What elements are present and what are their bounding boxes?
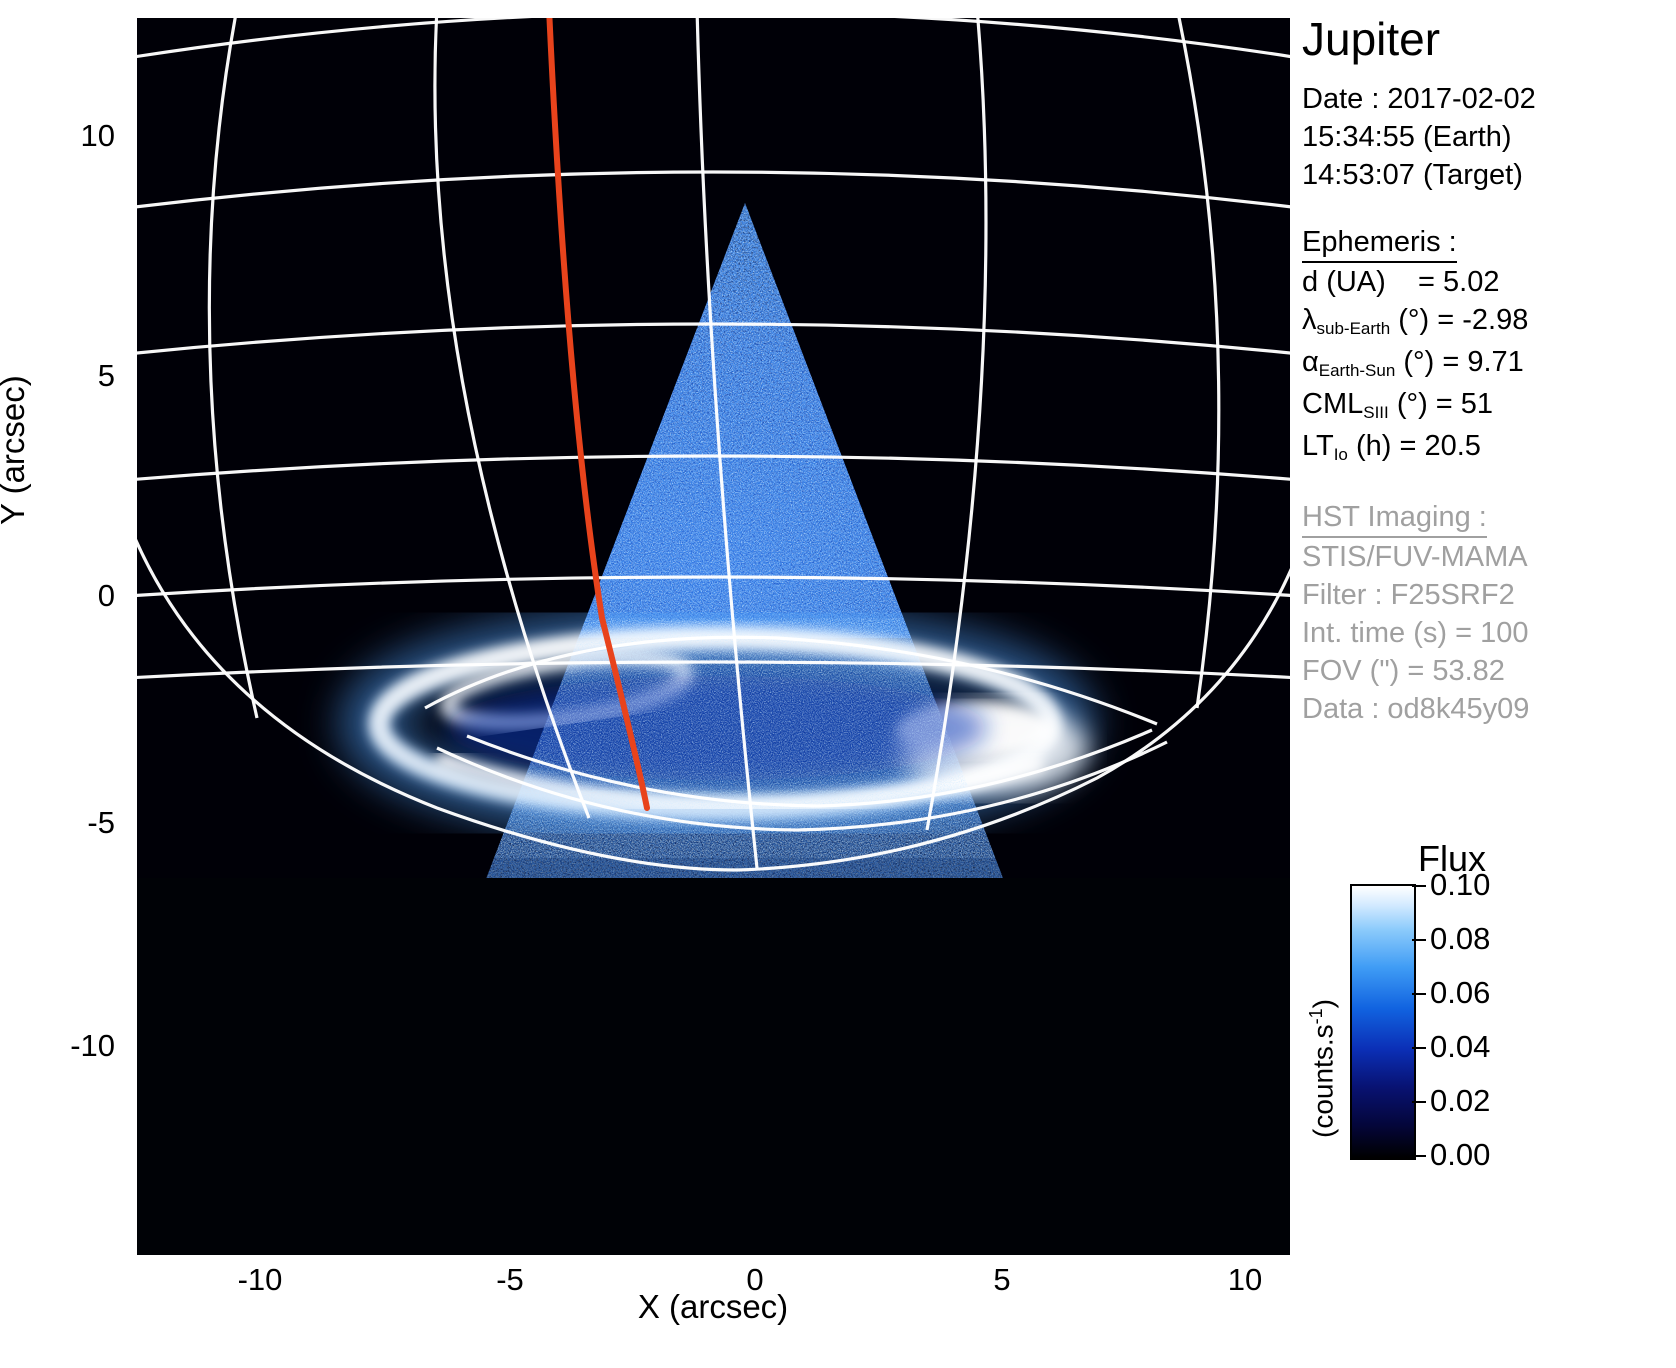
colorbar-unit-label: (counts.s-1) xyxy=(1306,999,1339,1138)
colorbar-unit-close: ) xyxy=(1307,999,1338,1008)
ephemeris-symbol-d: d xyxy=(1302,266,1318,298)
colorbar-label-004: 0.04 xyxy=(1430,1029,1490,1065)
colorbar-tick-mark-006 xyxy=(1412,993,1426,995)
spacer-1 xyxy=(1302,194,1676,208)
ephemeris-sub-cml: SIII xyxy=(1363,403,1389,422)
ephemeris-sub-lt: Io xyxy=(1334,445,1348,464)
ephemeris-value-alpha: = 9.71 xyxy=(1442,346,1523,378)
colorbar-label-008: 0.08 xyxy=(1430,921,1490,957)
observation-date: Date : 2017-02-02 xyxy=(1302,80,1676,118)
y-tick-minus10: -10 xyxy=(30,1028,115,1064)
colorbar-label-010: 0.10 xyxy=(1430,867,1490,903)
x-axis-title: X (arcsec) xyxy=(638,1288,788,1326)
imaging-instrument: STIS/FUV-MAMA xyxy=(1302,538,1676,576)
y-axis-title: Y (arcsec) xyxy=(0,375,32,525)
ephemeris-symbol-alpha: α xyxy=(1302,346,1319,378)
imaging-heading: HST Imaging : xyxy=(1302,499,1487,538)
colorbar-label-006: 0.06 xyxy=(1430,975,1490,1011)
ephemeris-symbol-lt: LT xyxy=(1302,430,1334,462)
colorbar-label-000: 0.00 xyxy=(1430,1137,1490,1173)
y-tick-5: 5 xyxy=(45,358,115,394)
x-tick-minus10: -10 xyxy=(210,1262,310,1298)
x-tick-minus5: -5 xyxy=(460,1262,560,1298)
imaging-integration-time: Int. time (s) = 100 xyxy=(1302,614,1676,652)
colorbar-tick-mark-002 xyxy=(1412,1101,1426,1103)
x-tick-5: 5 xyxy=(952,1262,1052,1298)
ephemeris-row-lt: LTIo (h) = 20.5 xyxy=(1302,427,1676,469)
spacer-2 xyxy=(1302,469,1676,483)
target-title: Jupiter xyxy=(1302,12,1676,66)
aurora-image-plot xyxy=(137,18,1290,1255)
imaging-fov: FOV (") = 53.82 xyxy=(1302,652,1676,690)
y-tick-0: 0 xyxy=(45,578,115,614)
ephemeris-row-lambda: λsub-Earth (°) = -2.98 xyxy=(1302,301,1676,343)
ephemeris-value-lambda: = -2.98 xyxy=(1437,304,1528,336)
ephemeris-unit-d: (UA) xyxy=(1326,266,1386,298)
imaging-filter: Filter : F25SRF2 xyxy=(1302,576,1676,614)
imaging-dataset: Data : od8k45y09 xyxy=(1302,690,1676,728)
info-panel: Jupiter Date : 2017-02-02 15:34:55 (Eart… xyxy=(1302,0,1676,800)
colorbar-unit-text: (counts.s xyxy=(1307,1024,1338,1138)
colorbar-tick-mark-008 xyxy=(1412,939,1426,941)
ephemeris-value-d: = 5.02 xyxy=(1418,266,1499,298)
background-sky-lower xyxy=(137,878,1290,1255)
colorbar-tick-mark-004 xyxy=(1412,1047,1426,1049)
ephemeris-unit-lt: (h) xyxy=(1356,430,1391,462)
ephemeris-sub-alpha: Earth-Sun xyxy=(1319,361,1396,380)
y-tick-10: 10 xyxy=(45,118,115,154)
colorbar-tick-mark-010 xyxy=(1412,885,1426,887)
plot-svg xyxy=(137,18,1290,1255)
observation-time-earth: 15:34:55 (Earth) xyxy=(1302,118,1676,156)
ephemeris-unit-cml: (°) xyxy=(1397,388,1428,420)
ephemeris-row-distance: d (UA) = 5.02 xyxy=(1302,263,1676,301)
ephemeris-row-alpha: αEarth-Sun (°) = 9.71 xyxy=(1302,343,1676,385)
ephemeris-sub-lambda: sub-Earth xyxy=(1317,319,1391,338)
ephemeris-unit-lambda: (°) xyxy=(1398,304,1429,336)
observation-time-target: 14:53:07 (Target) xyxy=(1302,156,1676,194)
colorbar-unit-exponent: -1 xyxy=(1306,1008,1326,1024)
ephemeris-row-cml: CMLSIII (°) = 51 xyxy=(1302,385,1676,427)
x-tick-10: 10 xyxy=(1195,1262,1295,1298)
colorbar-label-002: 0.02 xyxy=(1430,1083,1490,1119)
ephemeris-value-lt: = 20.5 xyxy=(1399,430,1480,462)
colorbar-gradient xyxy=(1350,884,1416,1160)
ephemeris-symbol-lambda: λ xyxy=(1302,304,1317,336)
y-tick-minus5: -5 xyxy=(45,805,115,841)
ephemeris-value-cml: = 51 xyxy=(1436,388,1493,420)
ephemeris-unit-alpha: (°) xyxy=(1403,346,1434,378)
colorbar-tick-mark-000 xyxy=(1412,1155,1426,1157)
ephemeris-heading: Ephemeris : xyxy=(1302,224,1457,263)
ephemeris-symbol-cml: CML xyxy=(1302,388,1363,420)
colorbar-block: Flux 0.10 0.08 0.06 0.04 0.02 0.00 (coun… xyxy=(1302,838,1676,1168)
